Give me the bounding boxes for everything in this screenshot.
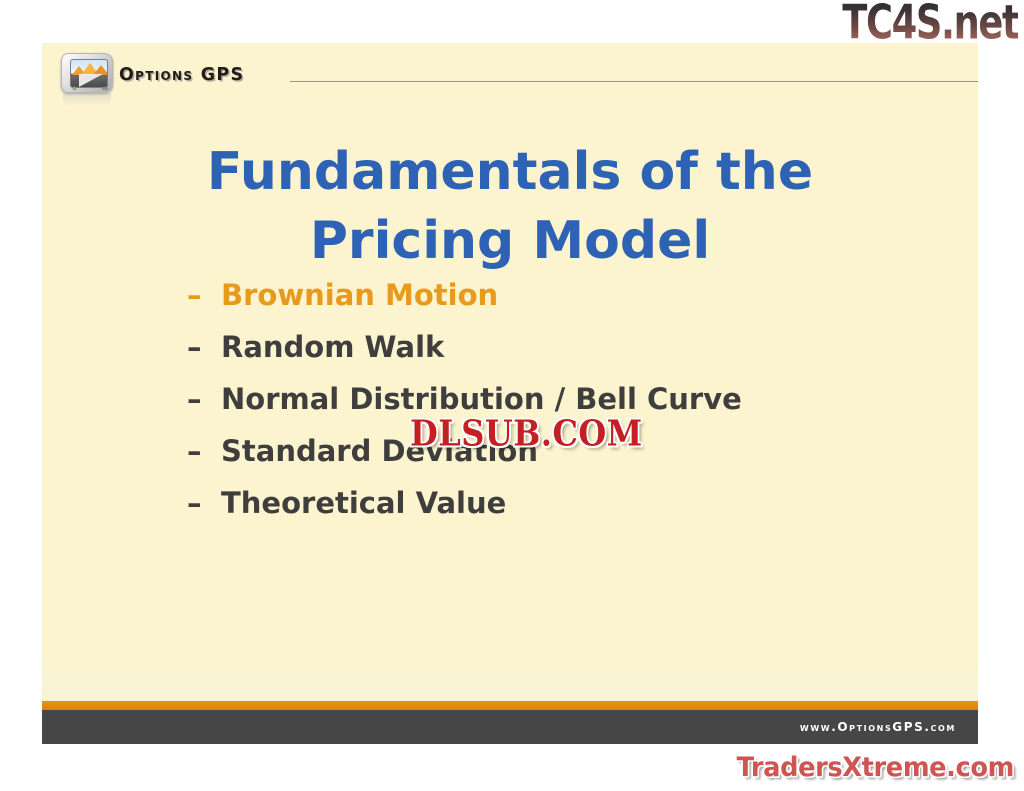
footer-accent-stripe xyxy=(42,701,978,710)
slide-canvas: Options GPS Fundamentals of the Pricing … xyxy=(42,43,978,744)
bullet-label: Brownian Motion xyxy=(221,278,498,312)
slide-footer: www.OptionsGPS.com xyxy=(42,710,978,744)
bullet-dash-icon: – xyxy=(187,382,221,416)
road-shape xyxy=(79,74,103,87)
gps-device-body xyxy=(61,53,113,93)
header-divider xyxy=(290,81,978,82)
watermark-dlsub: DLSUB.COM xyxy=(410,412,643,455)
brand-name: Options GPS xyxy=(119,65,244,85)
slide-header: Options GPS xyxy=(42,43,978,105)
bullet-dash-icon: – xyxy=(187,330,221,364)
bullet-label: Theoretical Value xyxy=(221,486,506,520)
bullet-dash-icon: – xyxy=(187,434,221,468)
bullet-label: Random Walk xyxy=(221,330,444,364)
bullet-list: – Brownian Motion – Random Walk – Normal… xyxy=(187,278,887,538)
list-item: – Theoretical Value xyxy=(187,486,887,538)
page-title: Fundamentals of the Pricing Model xyxy=(42,138,978,276)
bullet-dash-icon: – xyxy=(187,486,221,520)
list-item: – Random Walk xyxy=(187,330,887,382)
device-button xyxy=(102,87,108,90)
bullet-dash-icon: – xyxy=(187,278,221,312)
title-line-2: Pricing Model xyxy=(42,207,978,276)
footer-website-url: www.OptionsGPS.com xyxy=(800,720,956,734)
watermark-tradersxtreme: TradersXtreme.com xyxy=(737,752,1014,783)
bullet-label: Normal Distribution / Bell Curve xyxy=(221,382,742,416)
title-line-1: Fundamentals of the xyxy=(42,138,978,207)
gps-device-icon xyxy=(59,53,115,99)
gps-device-screen xyxy=(70,59,108,88)
device-reflection xyxy=(63,93,111,106)
list-item: – Brownian Motion xyxy=(187,278,887,330)
